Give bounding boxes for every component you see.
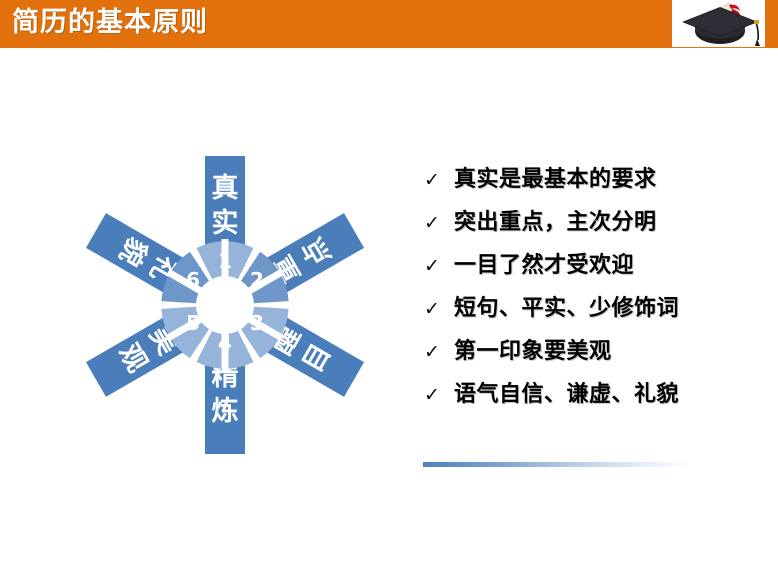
check-icon: ✓ <box>424 159 454 202</box>
ring-number-6: 6 <box>186 268 200 292</box>
spoke-1-label-char2: 实 <box>212 207 239 239</box>
list-item-label: 一目了然才受欢迎 <box>454 244 634 287</box>
ring-number-2: 2 <box>250 268 264 292</box>
list-item: ✓ 一目了然才受欢迎 <box>424 244 772 287</box>
check-icon: ✓ <box>424 331 454 374</box>
page-title: 简历的基本原则 <box>12 3 208 43</box>
ring-number-1: 1 <box>218 249 232 273</box>
ring-number-3: 3 <box>250 311 264 335</box>
list-item-label: 突出重点，主次分明 <box>454 201 657 244</box>
list-item-label: 语气自信、谦虚、礼貌 <box>454 373 679 416</box>
spoke-1-label-char1: 真 <box>212 173 239 204</box>
list-item-label: 真实是最基本的要求 <box>454 158 657 201</box>
ring-number-4: 4 <box>218 331 232 355</box>
ring-number-5: 5 <box>186 311 200 335</box>
check-icon: ✓ <box>424 288 454 331</box>
list-item: ✓ 突出重点，主次分明 <box>424 201 772 244</box>
spoke-4-label-char2: 炼 <box>212 395 239 427</box>
graduation-cap-icon <box>672 0 765 47</box>
radial-diagram: 真 实 重 点 醒 目 精 炼 <box>60 140 390 470</box>
list-item-label: 第一印象要美观 <box>454 330 612 373</box>
list-item: ✓ 短句、平实、少修饰词 <box>424 287 772 330</box>
list-item: ✓ 语气自信、谦虚、礼貌 <box>424 373 772 416</box>
check-icon: ✓ <box>424 374 454 417</box>
logo-container <box>672 0 765 47</box>
check-icon: ✓ <box>424 202 454 245</box>
decorative-underline <box>423 462 693 467</box>
principles-list: ✓ 真实是最基本的要求 ✓ 突出重点，主次分明 ✓ 一目了然才受欢迎 ✓ 短句、… <box>424 158 772 416</box>
list-item: ✓ 真实是最基本的要求 <box>424 158 772 201</box>
list-item-label: 短句、平实、少修饰词 <box>454 287 679 330</box>
check-icon: ✓ <box>424 245 454 288</box>
list-item: ✓ 第一印象要美观 <box>424 330 772 373</box>
